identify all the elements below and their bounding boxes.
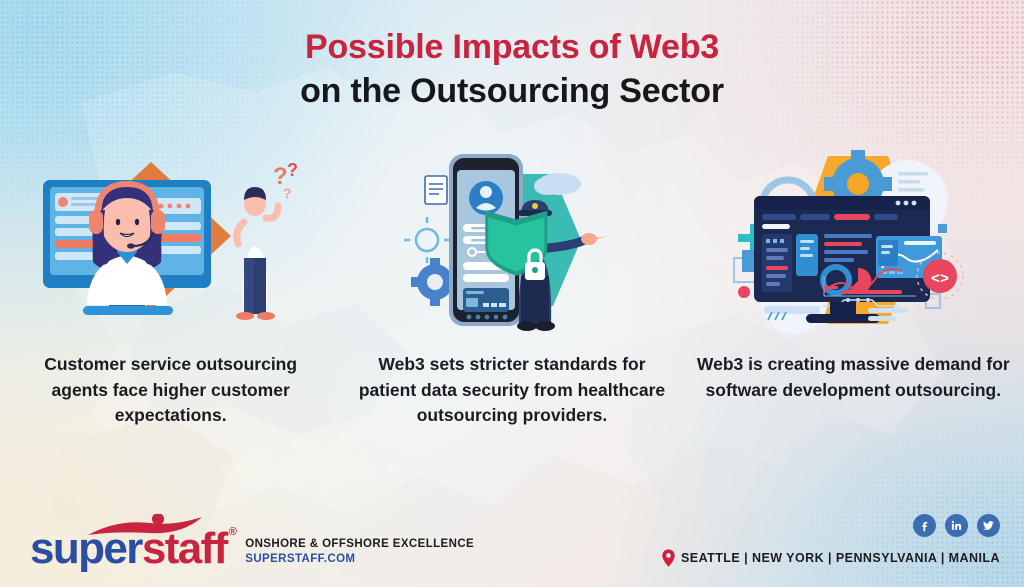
customer-service-agent-monitor-illustration: ? ? ? [21, 140, 321, 340]
infographic-canvas: Possible Impacts of Web3 on the Outsourc… [0, 0, 1024, 587]
registered-mark: ® [229, 527, 236, 538]
illustration-3-container: <> [683, 140, 1024, 340]
header: Possible Impacts of Web3 on the Outsourc… [0, 26, 1024, 113]
impact-caption-2: Web3 sets stricter standards for patient… [355, 352, 669, 429]
linkedin-icon[interactable] [945, 514, 968, 537]
locations-text: SEATTLE | NEW YORK | PENNSYLVANIA | MANI… [681, 551, 1000, 565]
page-title-line2: on the Outsourcing Sector [0, 70, 1024, 114]
social-links [913, 514, 1000, 537]
logo-text-staff: staff [142, 527, 227, 571]
illustration-2-container [341, 140, 682, 340]
illustration-1-container: ? ? ? [0, 140, 341, 340]
tagline-text: ONSHORE & OFFSHORE EXCELLENCE [245, 538, 474, 550]
logo-text-super: super [30, 527, 142, 571]
twitter-icon[interactable] [977, 514, 1000, 537]
page-title-line1: Possible Impacts of Web3 [0, 26, 1024, 70]
superstaff-logo[interactable]: super staff ® [30, 527, 235, 571]
svg-text:?: ? [287, 160, 298, 180]
impact-column-2: Web3 sets stricter standards for patient… [341, 140, 682, 470]
impact-columns: ? ? ? Customer service outsourcing agent… [0, 140, 1024, 470]
brand-block: super staff ® ONSHORE & OFFSHORE EXCELLE… [30, 527, 474, 571]
mobile-data-security-guard-shield-illustration [387, 140, 637, 340]
impact-caption-1: Customer service outsourcing agents face… [24, 352, 318, 429]
website-url[interactable]: SUPERSTAFF.COM [245, 553, 474, 565]
locations-block: SEATTLE | NEW YORK | PENNSYLVANIA | MANI… [662, 549, 1000, 567]
impact-column-1: ? ? ? Customer service outsourcing agent… [0, 140, 341, 470]
footer: super staff ® ONSHORE & OFFSHORE EXCELLE… [0, 495, 1024, 587]
impact-column-3: <> Web3 is creating massive demand for s… [683, 140, 1024, 470]
svg-text:<>: <> [931, 271, 949, 288]
location-pin-icon [662, 549, 675, 567]
software-development-dashboard-illustration: <> [718, 140, 988, 340]
facebook-icon[interactable] [913, 514, 936, 537]
svg-text:?: ? [283, 185, 292, 201]
tagline-block: ONSHORE & OFFSHORE EXCELLENCE SUPERSTAFF… [245, 538, 474, 571]
impact-caption-3: Web3 is creating massive demand for soft… [696, 352, 1010, 403]
